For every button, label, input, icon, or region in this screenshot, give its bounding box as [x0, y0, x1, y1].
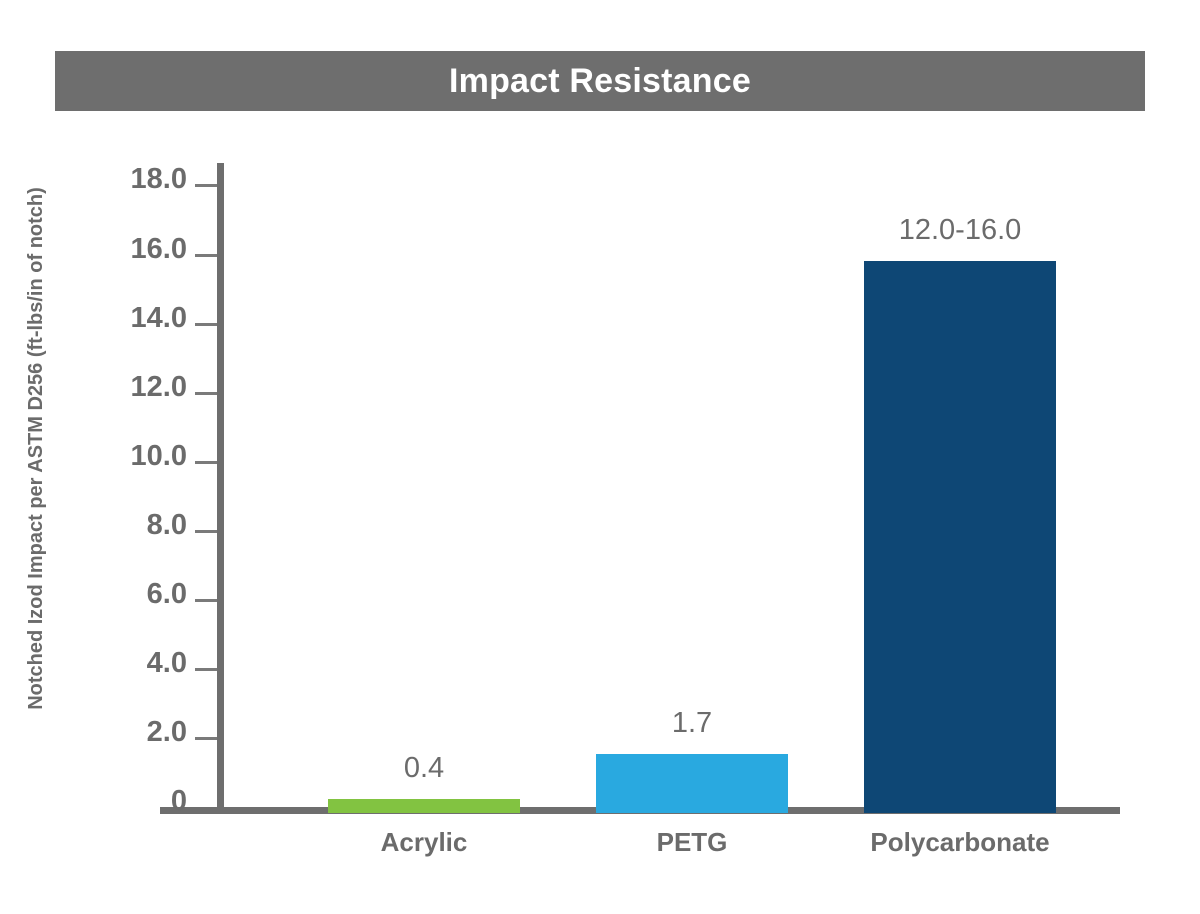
plot-area: 02.04.06.08.010.012.014.016.018.0 0.4Acr… — [217, 163, 1117, 813]
y-tick-label: 0 — [171, 787, 187, 816]
chart-title-bar: Impact Resistance — [55, 51, 1145, 111]
y-tick-label: 14.0 — [131, 304, 187, 333]
bar-value-label: 0.4 — [404, 754, 444, 783]
y-tick-label: 2.0 — [147, 718, 187, 747]
y-tick-label: 10.0 — [131, 442, 187, 471]
x-category-label: Acrylic — [381, 829, 468, 855]
bar-group[interactable]: 12.0-16.0Polycarbonate — [864, 169, 1056, 813]
y-tick-mark — [195, 737, 217, 740]
y-axis-title-text: Notched Izod Impact per ASTM D256 (ft-lb… — [25, 187, 48, 710]
y-tick-label: 6.0 — [147, 580, 187, 609]
x-category-label: PETG — [657, 829, 728, 855]
bar-value-label: 12.0-16.0 — [899, 216, 1022, 245]
bar-rect[interactable] — [328, 799, 520, 813]
bar-rect[interactable] — [864, 261, 1056, 813]
bar-value-label: 1.7 — [672, 709, 712, 738]
y-tick-mark — [195, 668, 217, 671]
y-axis-title: Notched Izod Impact per ASTM D256 (ft-lb… — [0, 0, 60, 914]
bar-rect[interactable] — [596, 754, 788, 813]
y-tick-label: 12.0 — [131, 373, 187, 402]
y-tick-mark — [195, 530, 217, 533]
y-tick-label: 8.0 — [147, 511, 187, 540]
y-tick-label: 4.0 — [147, 649, 187, 678]
chart-title: Impact Resistance — [449, 64, 751, 98]
y-tick-mark — [195, 461, 217, 464]
y-tick-mark — [195, 254, 217, 257]
y-tick-mark — [195, 323, 217, 326]
bar-group[interactable]: 0.4Acrylic — [328, 169, 520, 813]
x-category-label: Polycarbonate — [870, 829, 1049, 855]
y-tick-mark — [195, 184, 217, 187]
y-tick-label: 16.0 — [131, 235, 187, 264]
chart-figure: Impact Resistance Notched Izod Impact pe… — [0, 0, 1200, 914]
y-tick-label: 18.0 — [131, 165, 187, 194]
y-tick-mark — [195, 599, 217, 602]
bar-group[interactable]: 1.7PETG — [596, 169, 788, 813]
y-tick-mark — [195, 392, 217, 395]
y-axis-spine — [217, 163, 224, 813]
